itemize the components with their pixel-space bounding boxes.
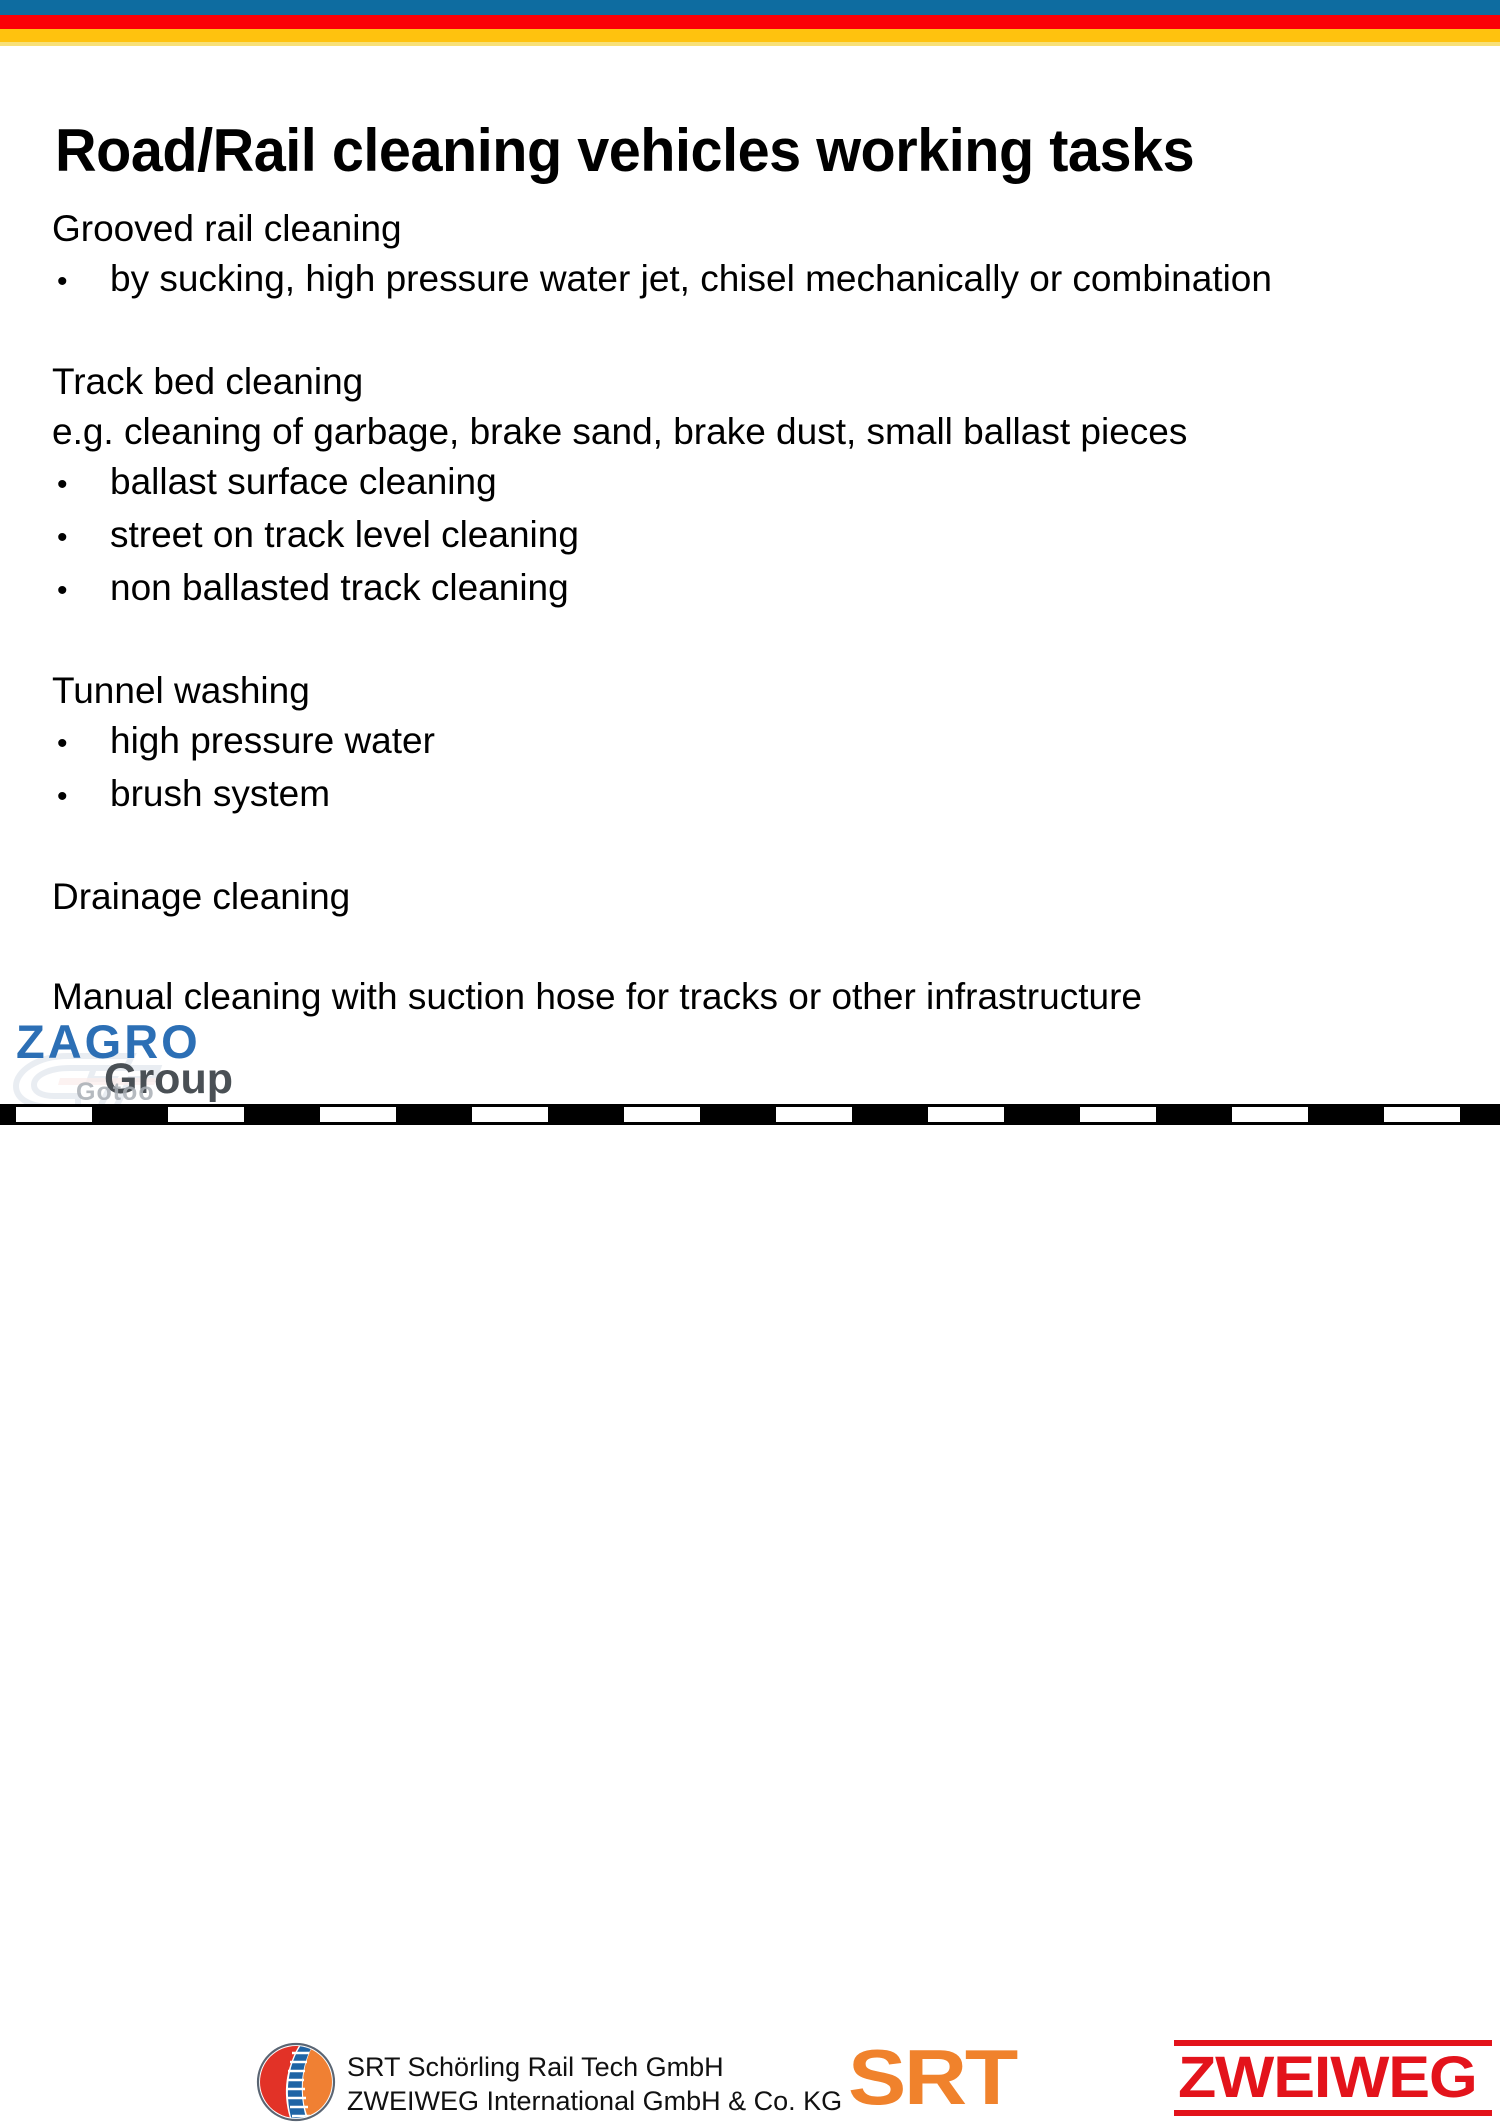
checker-block — [1384, 1107, 1460, 1122]
section-heading: Grooved rail cleaning — [52, 204, 1462, 254]
list-item: • street on track level cleaning — [52, 510, 1462, 563]
checker-block — [472, 1107, 548, 1122]
section-spacer — [52, 616, 1462, 666]
company-name-srt: SRT Schörling Rail Tech GmbH — [347, 2050, 842, 2084]
list-item: • brush system — [52, 769, 1462, 822]
gotoo-watermark-label: Gotoo — [76, 1080, 155, 1105]
checker-block — [16, 1107, 92, 1122]
section-heading: Drainage cleaning — [52, 872, 1462, 922]
section-spacer — [52, 307, 1462, 357]
list-item-label: ballast surface cleaning — [110, 457, 497, 507]
checker-block — [624, 1107, 700, 1122]
checker-block — [1232, 1107, 1308, 1122]
brand-bar-blue — [0, 0, 1500, 15]
zagro-group-logo: ZAGRO Group Gotoo — [8, 1018, 244, 1102]
srt-roundel-icon — [256, 2042, 336, 2122]
bullet-icon: • — [52, 719, 110, 769]
bullet-icon: • — [52, 772, 110, 822]
list-item-label: street on track level cleaning — [110, 510, 579, 560]
zweiweg-rule-top — [1174, 2040, 1492, 2046]
bullet-icon: • — [52, 460, 110, 510]
section-spacer — [52, 922, 1462, 972]
brand-bar-yellow-fade — [0, 42, 1500, 46]
section-spacer — [52, 822, 1462, 872]
slide-body: Grooved rail cleaning • by sucking, high… — [52, 204, 1462, 1022]
list-item: • non ballasted track cleaning — [52, 563, 1462, 616]
zweiweg-logo: ZWEIWEG — [1174, 2040, 1492, 2116]
page-title: Road/Rail cleaning vehicles working task… — [55, 118, 1389, 184]
srt-wordmark-logo: SRT — [848, 2038, 1016, 2116]
company-name-zweiweg: ZWEIWEG International GmbH & Co. KG — [347, 2084, 842, 2118]
checker-block — [168, 1107, 244, 1122]
list-item-label: non ballasted track cleaning — [110, 563, 569, 613]
list-item: • ballast surface cleaning — [52, 457, 1462, 510]
checker-block — [320, 1107, 396, 1122]
zweiweg-rule-bottom — [1174, 2110, 1492, 2116]
list-item-label: high pressure water — [110, 716, 435, 766]
section-tunnel-washing: Tunnel washing • high pressure water • b… — [52, 666, 1462, 822]
list-item: • by sucking, high pressure water jet, c… — [52, 254, 1462, 307]
list-item-label: brush system — [110, 769, 330, 819]
brand-bar-yellow — [0, 29, 1500, 42]
brand-color-bars — [0, 0, 1500, 46]
section-drainage-cleaning: Drainage cleaning — [52, 872, 1462, 922]
zweiweg-wordmark: ZWEIWEG — [1178, 2048, 1477, 2108]
list-item-label: by sucking, high pressure water jet, chi… — [110, 254, 1272, 304]
section-grooved-rail-cleaning: Grooved rail cleaning • by sucking, high… — [52, 204, 1462, 307]
brand-bar-red — [0, 15, 1500, 29]
section-heading: Tunnel washing — [52, 666, 1462, 716]
list-item: • high pressure water — [52, 716, 1462, 769]
company-names-block: SRT Schörling Rail Tech GmbH ZWEIWEG Int… — [347, 2050, 842, 2118]
checker-block — [928, 1107, 1004, 1122]
section-track-bed-cleaning: Track bed cleaning e.g. cleaning of garb… — [52, 357, 1462, 616]
checker-block — [776, 1107, 852, 1122]
bullet-icon: • — [52, 566, 110, 616]
bullet-icon: • — [52, 513, 110, 563]
section-subline: e.g. cleaning of garbage, brake sand, br… — [52, 407, 1462, 457]
slide-footer: ZAGRO Group Gotoo SRT — [0, 1014, 1500, 1102]
section-heading: Track bed cleaning — [52, 357, 1462, 407]
checker-block — [1080, 1107, 1156, 1122]
checkered-footer-bar — [0, 1104, 1500, 1125]
bullet-icon: • — [52, 257, 110, 307]
